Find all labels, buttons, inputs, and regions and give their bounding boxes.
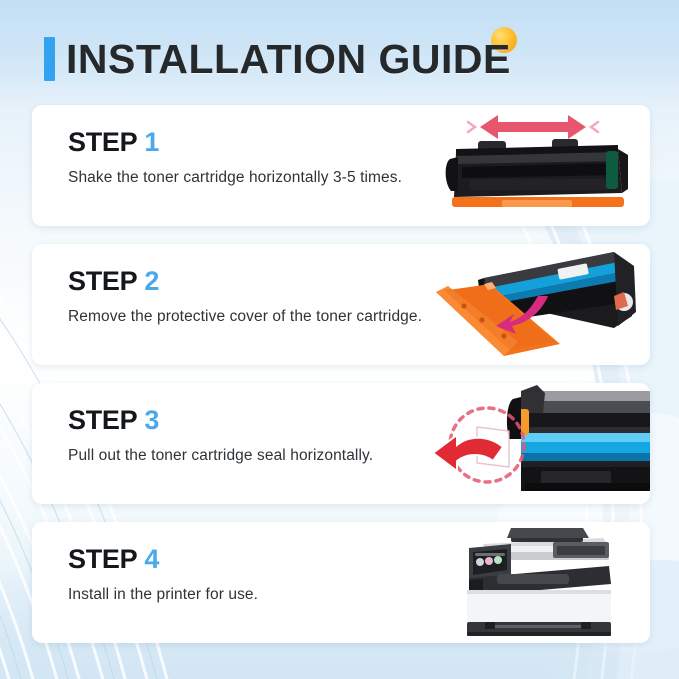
step-2-text: STEP2 Remove the protective cover of the… — [68, 268, 422, 327]
step-card-4: STEP4 Install in the printer for use. — [32, 522, 650, 643]
toner-cartridge-body-closeup — [507, 385, 650, 491]
steps-list: STEP1 Shake the toner cartridge horizont… — [32, 105, 650, 661]
step-4-number: 4 — [144, 544, 159, 574]
step-card-3: STEP3 Pull out the toner cartridge seal … — [32, 383, 650, 504]
step-1-text: STEP1 Shake the toner cartridge horizont… — [68, 129, 402, 188]
toner-cartridge-body — [446, 139, 628, 207]
toner-cover-removal-icon — [418, 244, 648, 365]
shake-arrow-icon — [468, 115, 598, 139]
step-3-label: STEP — [68, 405, 137, 435]
step-2-illustration — [418, 244, 648, 365]
step-2-heading: STEP2 — [68, 268, 422, 295]
laser-printer-icon — [453, 522, 628, 643]
toner-cartridge-shake-icon — [442, 105, 642, 226]
step-1-illustration — [442, 105, 642, 226]
step-4-heading: STEP4 — [68, 546, 258, 573]
page-header: INSTALLATION GUIDE — [44, 28, 511, 90]
installation-guide-page: INSTALLATION GUIDE STEP1 Shake the toner… — [0, 0, 679, 679]
step-2-label: STEP — [68, 266, 137, 296]
printer-body — [467, 590, 611, 636]
step-4-text: STEP4 Install in the printer for use. — [68, 546, 258, 605]
title-accent-bar — [44, 37, 55, 81]
step-1-heading: STEP1 — [68, 129, 402, 156]
step-card-1: STEP1 Shake the toner cartridge horizont… — [32, 105, 650, 226]
step-2-number: 2 — [144, 266, 159, 296]
step-3-heading: STEP3 — [68, 407, 373, 434]
step-1-label: STEP — [68, 127, 137, 157]
step-2-description: Remove the protective cover of the toner… — [68, 308, 422, 327]
toner-seal-pull-icon — [425, 383, 650, 504]
step-1-number: 1 — [144, 127, 159, 157]
step-1-description: Shake the toner cartridge horizontally 3… — [68, 169, 402, 188]
step-3-description: Pull out the toner cartridge seal horizo… — [68, 447, 373, 466]
page-title: INSTALLATION GUIDE — [66, 39, 511, 80]
step-4-label: STEP — [68, 544, 137, 574]
step-4-description: Install in the printer for use. — [68, 586, 258, 605]
step-card-2: STEP2 Remove the protective cover of the… — [32, 244, 650, 365]
step-3-text: STEP3 Pull out the toner cartridge seal … — [68, 407, 373, 466]
step-3-number: 3 — [144, 405, 159, 435]
title-wrapper: INSTALLATION GUIDE — [66, 39, 511, 80]
step-4-illustration — [453, 522, 628, 643]
step-3-illustration — [425, 383, 650, 504]
